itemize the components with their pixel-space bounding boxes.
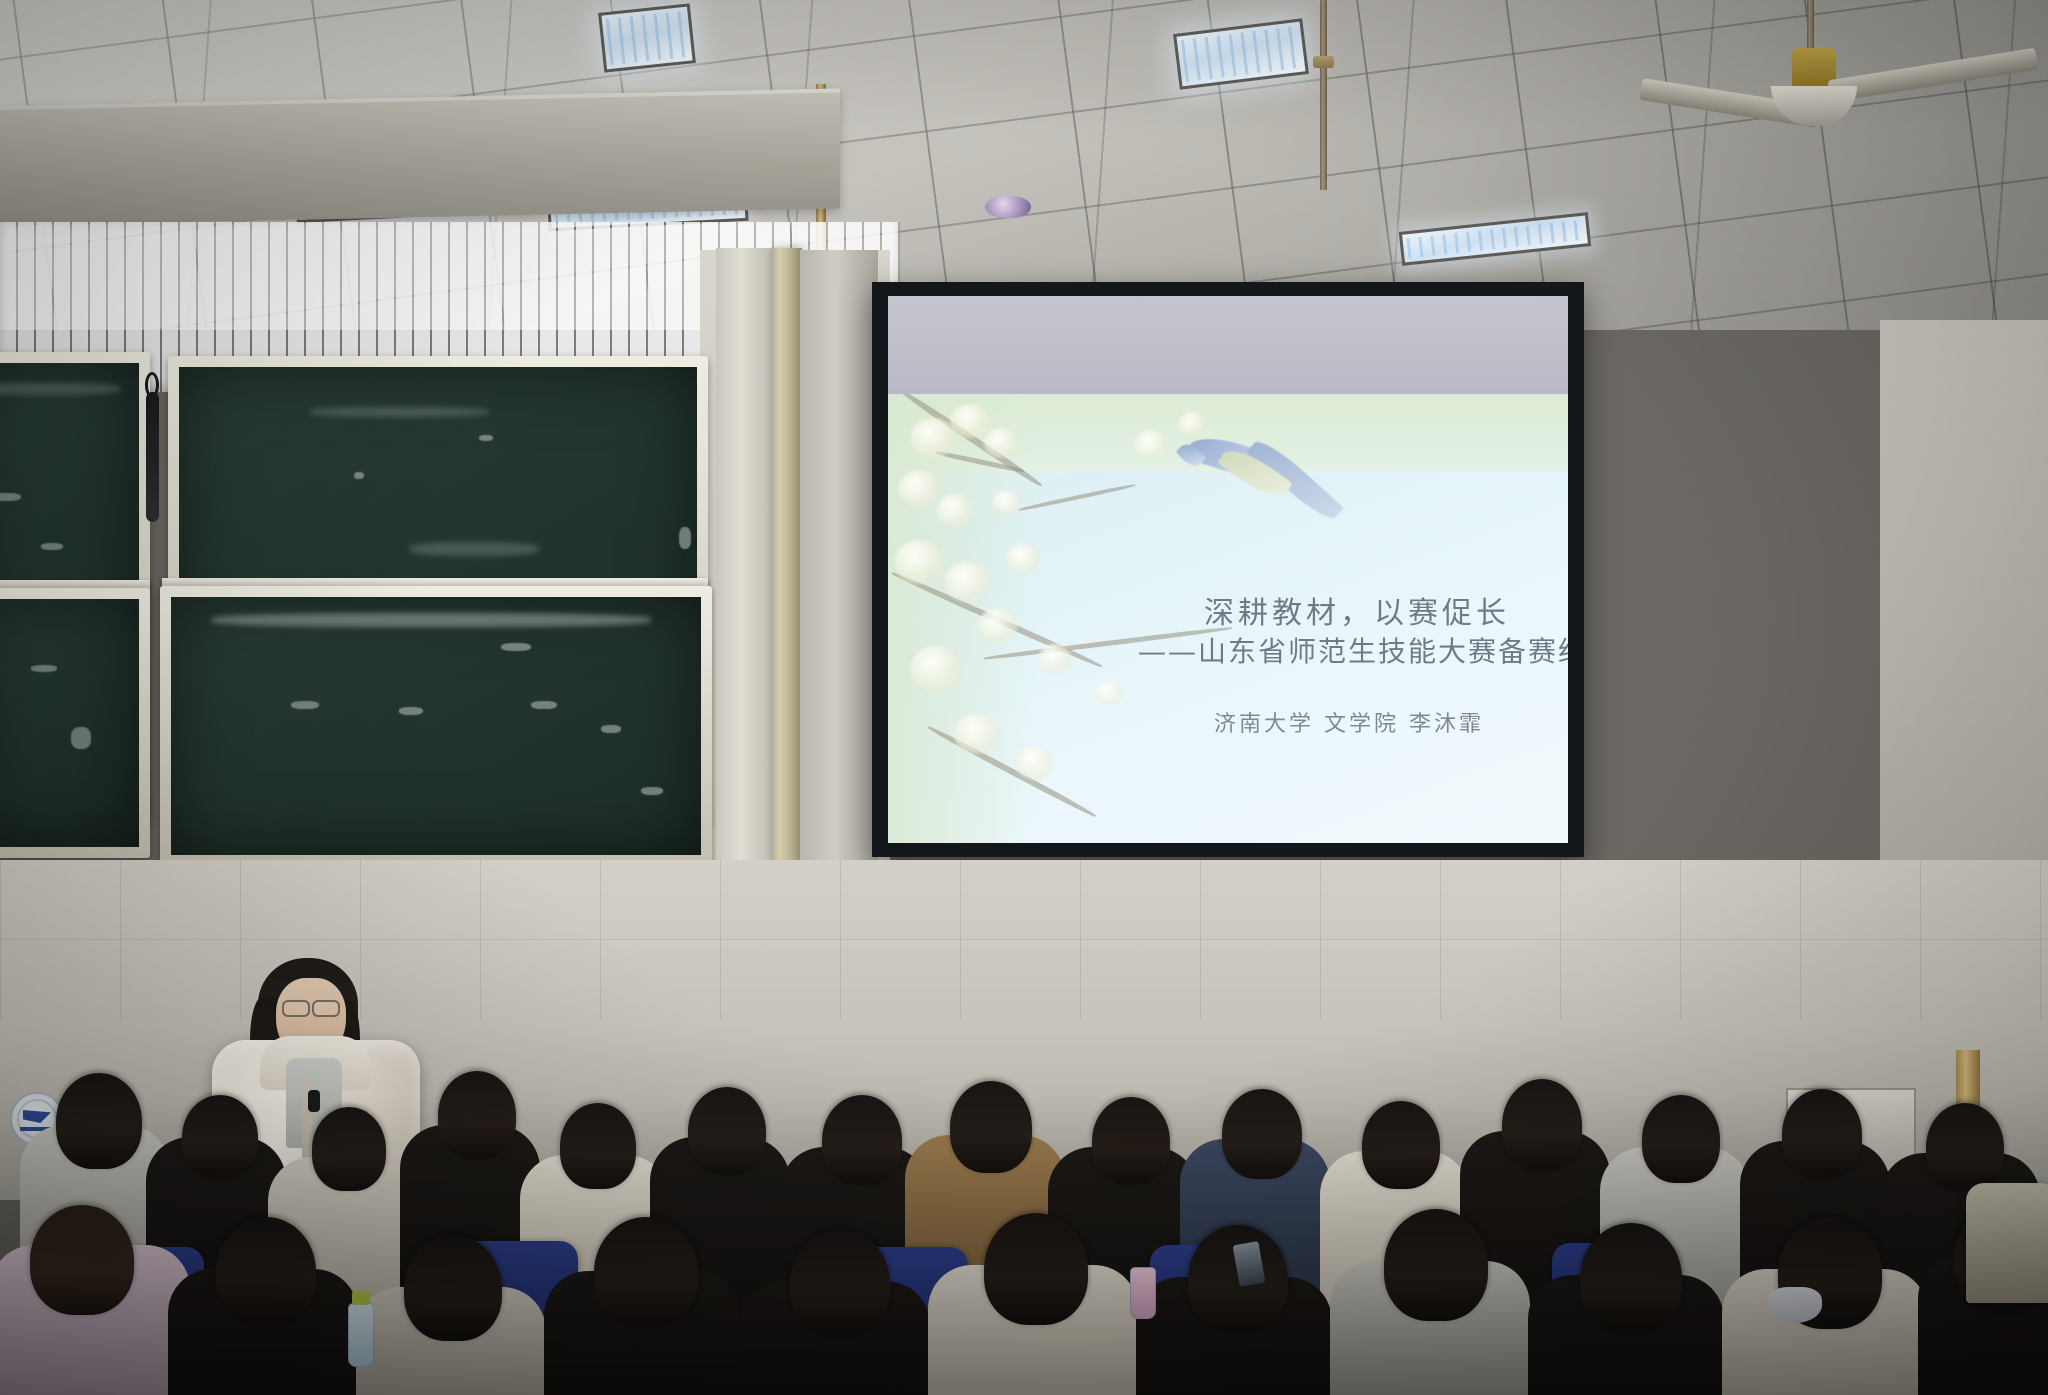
audience-head-front (30, 1205, 134, 1315)
classroom-scene: 深耕教材，以赛促长 ——山东省师范生技能大赛备赛经验分享 济南大学 文学院 李沐… (0, 0, 2048, 1395)
water-bottle (1130, 1267, 1156, 1319)
chalkboard-surface-left-lower (0, 599, 139, 847)
motion-sensor (985, 196, 1031, 218)
audience-head (688, 1087, 766, 1175)
blossom (1094, 680, 1124, 706)
audience-head-front (984, 1213, 1088, 1325)
pillar-face (716, 248, 778, 908)
blossom (1016, 746, 1054, 780)
audience-head (1502, 1079, 1582, 1171)
bottle-cap (352, 1291, 370, 1305)
audience-head-front (216, 1217, 316, 1325)
audience-head (560, 1103, 636, 1189)
chalkboard-main-lower (160, 586, 712, 866)
pointer-stick[interactable] (146, 392, 159, 522)
audience-head (1362, 1101, 1440, 1189)
audience-head (950, 1081, 1032, 1173)
audience-head-front (1580, 1223, 1682, 1333)
pillar-edge-trim (772, 248, 802, 908)
audience-head (182, 1095, 258, 1179)
pillar-face-right (800, 250, 878, 908)
projection-screen: 深耕教材，以赛促长 ——山东省师范生技能大赛备赛经验分享 济南大学 文学院 李沐… (872, 282, 1584, 857)
ceiling-beam (0, 88, 840, 226)
audience-head (1222, 1089, 1302, 1179)
audience-head (1092, 1097, 1170, 1185)
ceiling-rod (1320, 0, 1327, 190)
slide-author: 济南大学 文学院 李沐霏 (1214, 706, 1484, 738)
side-chair (1966, 1183, 2048, 1303)
audience-head (1926, 1103, 2004, 1191)
audience-head (1782, 1089, 1862, 1179)
slide-title: 深耕教材，以赛促长 (1204, 588, 1510, 632)
chalkboard-surface-main-lower (171, 597, 701, 855)
audience (0, 925, 2048, 1395)
audience-head-front (790, 1229, 890, 1337)
audience-head (438, 1071, 516, 1159)
slide-topbar (888, 296, 1568, 394)
face-mask (1768, 1287, 1822, 1323)
audience-head (822, 1095, 902, 1185)
slide-subtitle: ——山东省师范生技能大赛备赛经验分享 (1138, 630, 1568, 670)
light-panel (598, 3, 696, 72)
water-bottle (348, 1303, 374, 1367)
audience-head-front (1384, 1209, 1488, 1321)
rod-cap (1313, 56, 1334, 68)
audience-head-front (594, 1217, 698, 1327)
chalkboard-left-lower (0, 588, 150, 858)
audience-head (1642, 1095, 1720, 1183)
slide-content: 深耕教材，以赛促长 ——山东省师范生技能大赛备赛经验分享 济南大学 文学院 李沐… (888, 394, 1568, 843)
audience-head (312, 1107, 386, 1191)
audience-head (56, 1073, 142, 1169)
blossom (1038, 644, 1072, 674)
audience-head-front (404, 1235, 502, 1341)
upper-wall-far-right (1880, 320, 2048, 880)
screen-surface: 深耕教材，以赛促长 ——山东省师范生技能大赛备赛经验分享 济南大学 文学院 李沐… (888, 296, 1568, 843)
